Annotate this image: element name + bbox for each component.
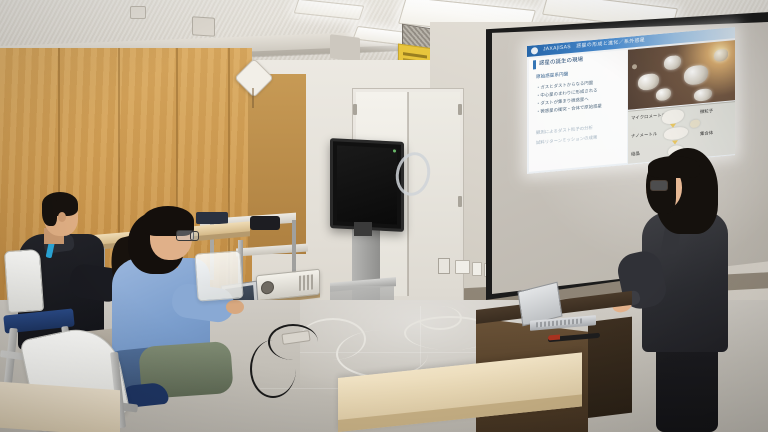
- dust-grain: [684, 65, 708, 86]
- slide-footnote: 試料リターンミッションの成果: [536, 135, 597, 147]
- stacking-chair-back[interactable]: [194, 250, 243, 301]
- attendee-man-hair: [42, 200, 57, 226]
- dust-grain: [714, 49, 728, 62]
- presenter-legs: [656, 344, 718, 432]
- diagram-label: 結晶: [631, 151, 640, 158]
- arrow-down-icon: [670, 123, 676, 128]
- diagram-label: マイクロメートル: [631, 112, 666, 121]
- projector-lens-icon: [261, 280, 274, 294]
- slide-subheading: 原始惑星系円盤: [536, 71, 568, 80]
- cable-run: [250, 340, 296, 398]
- speaker-wire: [252, 88, 254, 108]
- slide-footnote: 観測によるダスト粒子の分析: [536, 125, 593, 136]
- wall-outlet[interactable]: [455, 260, 470, 274]
- diagram-label: 微粒子: [700, 108, 713, 115]
- door-hinge: [458, 104, 462, 115]
- diagram-label: ナノメートル: [631, 131, 657, 139]
- slide-text-panel: 惑星の誕生の現場 原始惑星系円盤 ・ガスとダストからなる円盤 ・中心星のまわりに…: [529, 50, 627, 172]
- tv-screen: [337, 145, 397, 224]
- cable-run: [418, 306, 462, 330]
- ceiling-fixture: [130, 6, 146, 19]
- laptop-keyboard[interactable]: [536, 318, 582, 327]
- dust-speck: [632, 64, 637, 69]
- door-hinge: [353, 104, 357, 115]
- diagram-particle: [662, 109, 684, 125]
- laser-pointer-tip: [548, 334, 560, 340]
- attendee-man-ear: [58, 212, 66, 222]
- equipment-box: [196, 212, 228, 224]
- projected-slide: JAXA|ISAS 惑星の形成と進化／系外惑星 惑星の誕生の現場 原始惑星系円盤…: [527, 27, 735, 174]
- front-left-table: [0, 382, 120, 432]
- dust-grain: [656, 88, 671, 101]
- screenshot-root: JAXA|ISAS 惑星の形成と進化／系外惑星 惑星の誕生の現場 原始惑星系円盤…: [0, 0, 768, 432]
- diagram-particle: [690, 119, 700, 128]
- attendee-woman-hand: [226, 300, 244, 314]
- glasses-icon: [190, 231, 199, 241]
- diagram-label: 集合体: [700, 130, 713, 137]
- presenter-hair: [648, 156, 700, 178]
- lectern-side: [588, 317, 632, 418]
- glasses-icon: [650, 180, 668, 191]
- wall-outlet[interactable]: [438, 258, 450, 274]
- diagram-particle: [664, 126, 688, 140]
- wall-outlet[interactable]: [472, 262, 482, 276]
- dust-grain: [694, 88, 712, 102]
- tv-mount: [354, 222, 372, 236]
- slide-micrograph-image: [628, 40, 735, 110]
- arrow-down-icon: [672, 140, 678, 145]
- dust-grain: [664, 55, 681, 71]
- projector-vent: [299, 274, 313, 290]
- flat-screen-tv[interactable]: [330, 138, 404, 232]
- equipment-case: [250, 216, 280, 230]
- power-led-icon: [393, 149, 396, 152]
- stacking-chair-back[interactable]: [4, 249, 44, 313]
- ceiling-fixture: [192, 16, 215, 37]
- door-hinge: [458, 196, 462, 207]
- ceiling-mount: [330, 34, 360, 62]
- dust-grain: [638, 73, 659, 91]
